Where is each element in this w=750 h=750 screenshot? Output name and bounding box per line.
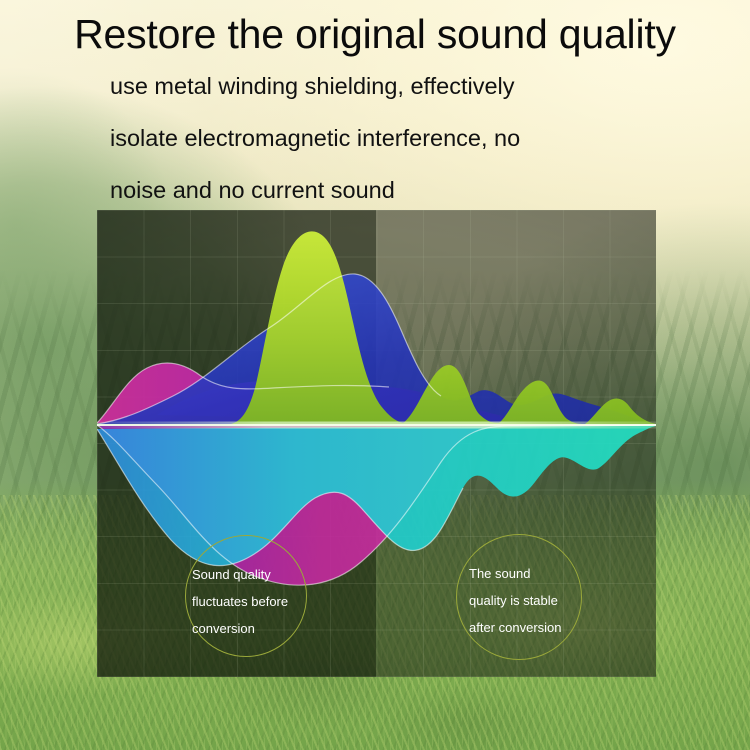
subtitle-line-2: isolate electromagnetic interference, no	[110, 127, 520, 151]
promo-poster: Restore the original sound quality use m…	[0, 0, 750, 750]
annotation-circle-after: The sound quality is stable after conver…	[456, 534, 582, 660]
annotation-line: fluctuates before	[192, 588, 288, 615]
annotation-text-after: The sound quality is stable after conver…	[469, 560, 562, 641]
subtitle-line-3: noise and no current sound	[110, 179, 395, 203]
page-title: Restore the original sound quality	[0, 14, 750, 55]
subtitle-line-1: use metal winding shielding, effectively	[110, 75, 515, 99]
annotation-circle-before: Sound quality fluctuates before conversi…	[185, 535, 307, 657]
annotation-line: after conversion	[469, 614, 562, 641]
annotation-line: The sound	[469, 560, 562, 587]
annotation-line: conversion	[192, 615, 288, 642]
annotation-line: Sound quality	[192, 561, 288, 588]
annotation-text-before: Sound quality fluctuates before conversi…	[192, 561, 288, 642]
annotation-line: quality is stable	[469, 587, 562, 614]
